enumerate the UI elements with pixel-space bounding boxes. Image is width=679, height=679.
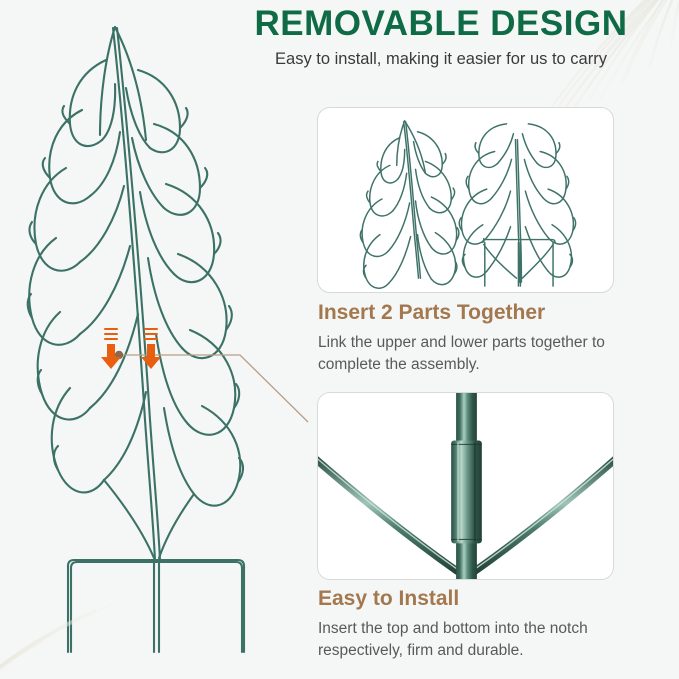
- infographic-page: REMOVABLE DESIGN Easy to install, making…: [0, 0, 679, 679]
- feature-description: Insert the top and bottom into the notch…: [318, 618, 670, 662]
- feature-caption-easy-to-install: Easy to Install Insert the top and botto…: [318, 586, 670, 662]
- feature-heading: Insert 2 Parts Together: [318, 300, 670, 326]
- feature-description: Link the upper and lower parts together …: [318, 332, 670, 376]
- assembly-arrow-right: [138, 327, 164, 371]
- assembly-arrow-left: [98, 327, 124, 371]
- two-part-leaf-trellis-diagram: [317, 107, 614, 293]
- feature-heading: Easy to Install: [318, 586, 670, 612]
- connector-sleeve-closeup-photo: [317, 392, 614, 580]
- feature-caption-insert-2-parts: Insert 2 Parts Together Link the upper a…: [318, 300, 670, 376]
